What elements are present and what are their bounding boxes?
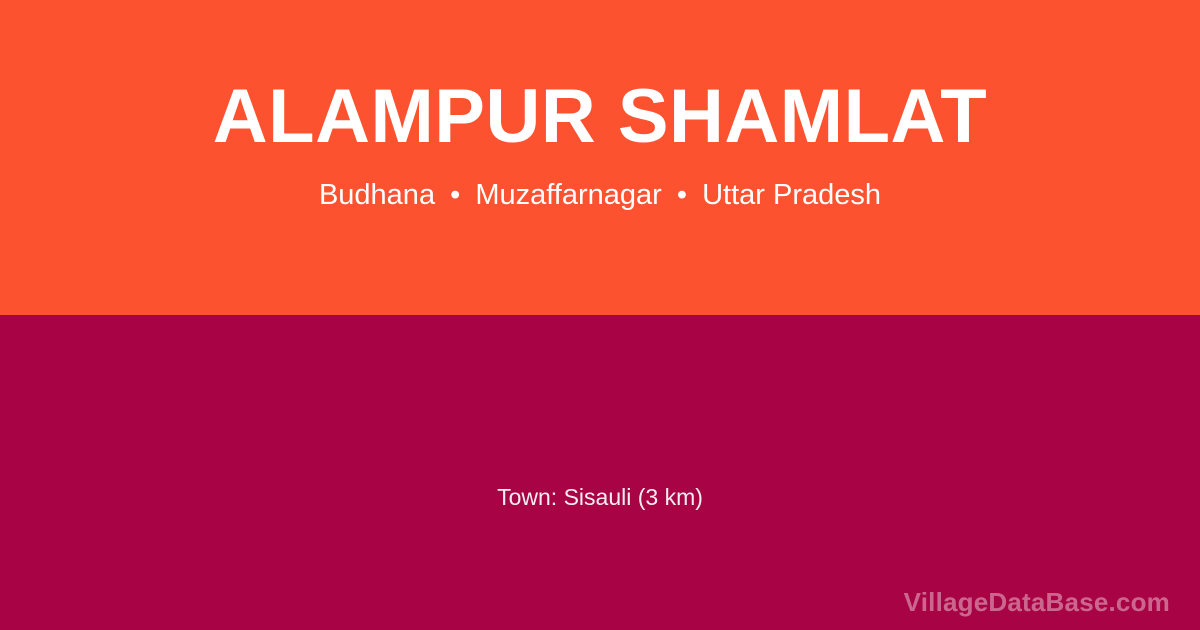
nearest-town-detail: Town: Sisauli (3 km) (0, 486, 1200, 509)
village-info-card: ALAMPUR SHAMLAT Budhana • Muzaffarnagar … (0, 0, 1200, 630)
details-panel: Town: Sisauli (3 km) VillageDataBase.com (0, 315, 1200, 630)
hero-banner: ALAMPUR SHAMLAT Budhana • Muzaffarnagar … (0, 0, 1200, 315)
breadcrumb-district: Muzaffarnagar (475, 179, 661, 211)
breadcrumb-separator-icon: • (670, 179, 694, 212)
site-watermark: VillageDataBase.com (904, 587, 1170, 618)
breadcrumb-separator-icon: • (443, 179, 467, 212)
page-title: ALAMPUR SHAMLAT (213, 79, 987, 155)
breadcrumb-block: Budhana (319, 179, 435, 211)
breadcrumb-state: Uttar Pradesh (702, 179, 881, 211)
breadcrumb: Budhana • Muzaffarnagar • Uttar Pradesh (319, 179, 881, 212)
